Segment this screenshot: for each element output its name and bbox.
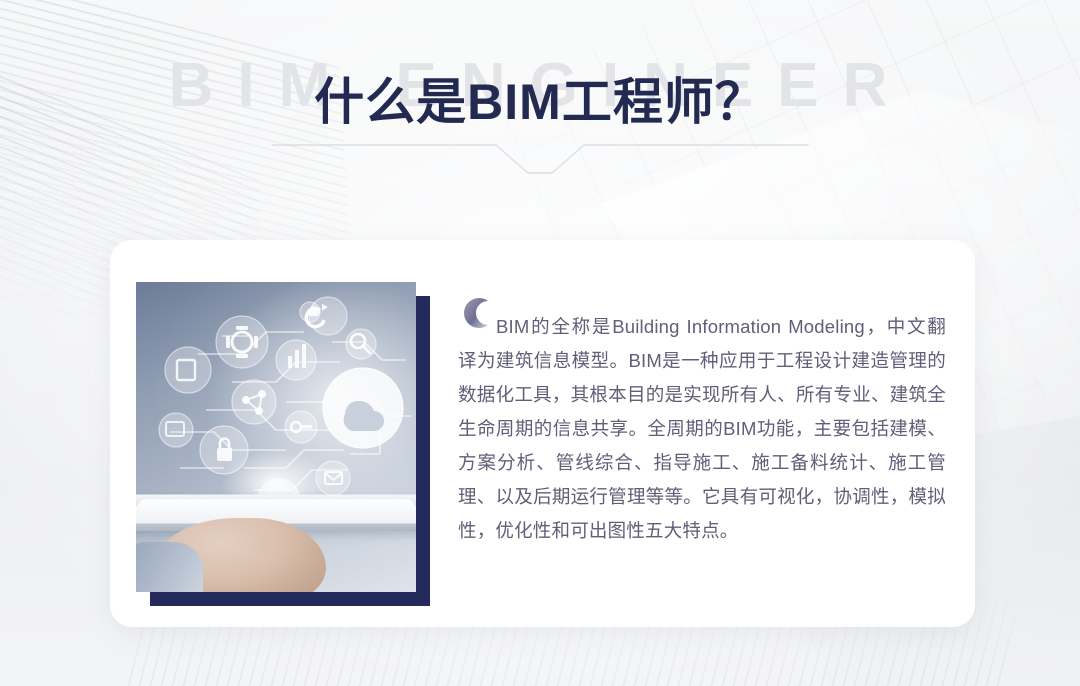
gear-icon: [216, 316, 268, 368]
document-icon: [165, 347, 211, 393]
poster-canvas: BIM ENGINEER 什么是BIM工程师？: [0, 0, 1080, 686]
shirt-sleeve: [136, 542, 203, 592]
folder-icon: [159, 413, 193, 447]
body-paragraph: BIM的全称是Building Information Modeling，中文翻…: [458, 310, 946, 548]
photo-block: [136, 282, 416, 592]
poster-header: BIM ENGINEER 什么是BIM工程师？: [0, 40, 1080, 180]
share-node-icon: [232, 380, 276, 424]
tablet-technology-photo: [136, 282, 416, 592]
title-divider: [270, 137, 810, 177]
page-title: 什么是BIM工程师？: [0, 62, 1080, 134]
content-card: BIM的全称是Building Information Modeling，中文翻…: [110, 240, 975, 627]
